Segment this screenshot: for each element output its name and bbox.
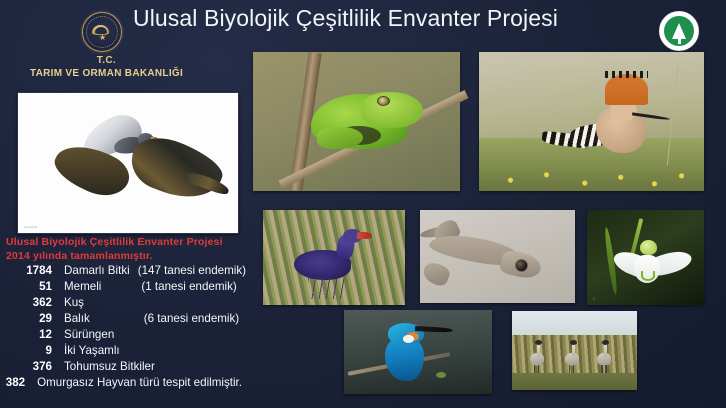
hoopoe-crest: [605, 74, 648, 105]
field: [512, 373, 637, 390]
crane-leg: [605, 365, 607, 373]
species-name: Damarlı Bitki: [52, 264, 130, 277]
list-item: 29 Balık (6 tanesi endemik): [0, 312, 250, 328]
species-count: 1784: [0, 264, 52, 277]
species-name: Omurgasız Hayvan türü tespit edilmiştir.: [25, 376, 242, 389]
gecko-eye: [515, 259, 528, 272]
list-item: 382 Omurgasız Hayvan türü tespit edilmiş…: [0, 376, 250, 392]
crane-head: [602, 340, 609, 345]
list-item: 376 Tohumsuz Bitkiler: [0, 360, 250, 376]
crane-head: [570, 340, 577, 345]
tree-trunk-icon: [678, 38, 681, 44]
species-name: İki Yaşamlı: [52, 344, 120, 357]
forestry-emblem-inner: [662, 14, 696, 48]
species-count: 12: [0, 328, 52, 341]
photo-hoopoe: [479, 52, 704, 191]
species-count: 51: [0, 280, 52, 293]
frog-head: [361, 92, 423, 128]
turkish-republic-emblem-icon: ★: [82, 12, 122, 52]
species-count: 9: [0, 344, 52, 357]
species-endemic-note: (1 tanesi endemik): [101, 280, 236, 293]
slide-header: ★ Ulusal Biyolojik Çeşitlilik Envanter P…: [0, 0, 726, 52]
species-name: Kuş: [52, 296, 84, 309]
list-item: 51 Memeli (1 tanesi endemik): [0, 280, 250, 296]
kingfisher-collar: [403, 335, 413, 343]
star-icon: ★: [99, 35, 105, 41]
list-item: 9 İki Yaşamlı: [0, 344, 250, 360]
notice-line-1: Ulusal Biyolojik Çeşitlilik Envanter Pro…: [6, 236, 223, 248]
species-count: 362: [0, 296, 52, 309]
swamphen-legs: [308, 278, 345, 299]
ministry-line-2: TARIM VE ORMAN BAKANLIĞI: [0, 68, 213, 79]
crane-bird: [530, 343, 542, 373]
list-item: 1784 Damarlı Bitki (147 tanesi endemik): [0, 264, 250, 280]
photo-snowdrop-flower: ©: [587, 210, 704, 305]
crane-bird: [597, 343, 609, 373]
crane-head: [535, 340, 542, 345]
snowdrop-green-mark: [641, 271, 655, 281]
species-count-list: 1784 Damarlı Bitki (147 tanesi endemik) …: [0, 264, 250, 392]
page-title: Ulusal Biyolojik Çeşitlilik Envanter Pro…: [133, 5, 633, 32]
photo-watermark: ©: [593, 297, 595, 301]
crane-neck: [537, 343, 540, 357]
crane-bird: [565, 343, 577, 373]
list-item: 12 Sürüngen: [0, 328, 250, 344]
photo-tree-frog: [253, 52, 460, 191]
species-name: Memeli: [52, 280, 101, 293]
species-name: Sürüngen: [52, 328, 114, 341]
crane-neck: [572, 343, 575, 357]
tree-icon: [672, 23, 686, 39]
photo-gecko: [420, 210, 575, 303]
crane-leg: [573, 365, 575, 373]
ministry-line-1: T.C.: [0, 55, 213, 66]
photo-kingfisher: [344, 310, 492, 394]
species-name: Tohumsuz Bitkiler: [52, 360, 155, 373]
species-count: 382: [0, 376, 25, 389]
photo-cranes: [512, 311, 637, 390]
crane-leg: [569, 365, 571, 373]
photo-raptor-in-flight: Fotoğraf: [17, 92, 239, 234]
species-endemic-note: (147 tanesi endemik): [130, 264, 246, 277]
species-count: 376: [0, 360, 52, 373]
notice-line-2: 2014 yılında tamamlanmıştır.: [6, 250, 153, 262]
forestry-emblem-icon: [659, 11, 699, 51]
leaf: [436, 372, 446, 378]
crane-leg: [538, 365, 540, 373]
list-item: 362 Kuş: [0, 296, 250, 312]
photo-watermark: Fotoğraf: [24, 225, 38, 229]
species-endemic-note: (6 tanesi endemik): [90, 312, 239, 325]
species-count: 29: [0, 312, 52, 325]
photo-purple-swamphen: [263, 210, 405, 305]
crane-leg: [601, 365, 603, 373]
species-name: Balık: [52, 312, 90, 325]
crane-neck: [604, 343, 607, 357]
yellow-flowers: [479, 155, 704, 191]
crane-leg: [534, 365, 536, 373]
presentation-slide: ★ Ulusal Biyolojik Çeşitlilik Envanter P…: [0, 0, 726, 408]
snowdrop-ovary: [640, 240, 657, 255]
